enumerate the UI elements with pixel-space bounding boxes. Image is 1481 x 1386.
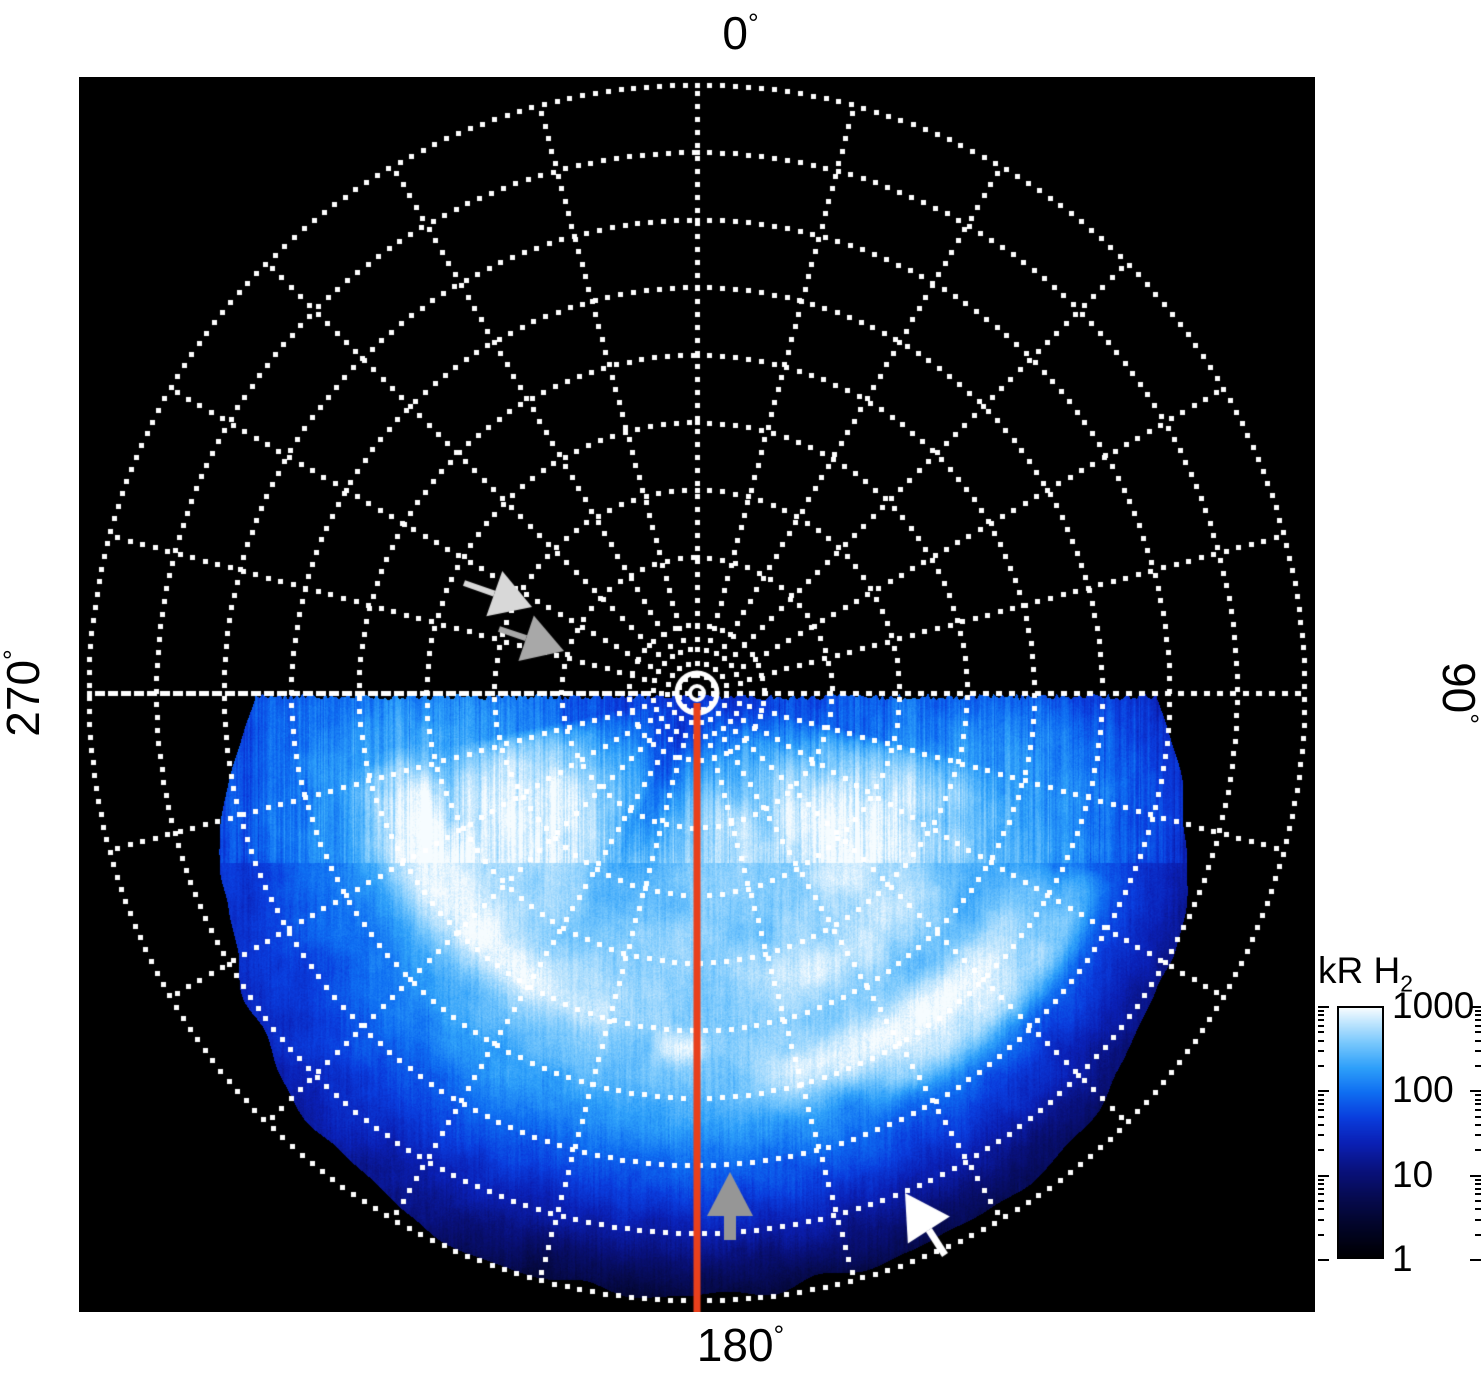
colorbar-major-tick — [1470, 1175, 1481, 1177]
colorbar-minor-tick — [1318, 1040, 1324, 1042]
colorbar-major-tick — [1318, 1090, 1329, 1092]
colorbar-minor-tick — [1475, 1234, 1481, 1236]
axis-label-180: 180° — [0, 1322, 1481, 1368]
axis-label-0: 0° — [0, 10, 1481, 56]
colorbar-minor-tick — [1475, 1019, 1481, 1021]
colorbar-minor-tick — [1318, 1099, 1324, 1101]
colorbar-major-tick — [1470, 1090, 1481, 1092]
colorbar-minor-tick — [1475, 1099, 1481, 1101]
colorbar-minor-tick — [1475, 1183, 1481, 1185]
colorbar-minor-tick — [1475, 1014, 1481, 1016]
axis-label-90: 90° — [1436, 608, 1481, 778]
colorbar-tick-label: 10 — [1392, 1154, 1433, 1196]
colorbar-tick-label: 100 — [1392, 1069, 1454, 1111]
colorbar-minor-tick — [1318, 1065, 1324, 1067]
axis-label-270: 270° — [0, 608, 46, 778]
colorbar-minor-tick — [1318, 1014, 1324, 1016]
colorbar-major-tick — [1470, 1259, 1481, 1261]
colorbar-minor-tick — [1475, 1219, 1481, 1221]
colorbar-minor-tick — [1475, 1065, 1481, 1067]
colorbar-minor-tick — [1318, 1019, 1324, 1021]
colorbar-minor-tick — [1318, 1179, 1324, 1181]
colorbar-minor-tick — [1475, 1031, 1481, 1033]
colorbar-box — [1337, 1006, 1384, 1259]
colorbar-minor-tick — [1475, 1193, 1481, 1195]
colorbar-minor-tick — [1318, 1050, 1324, 1052]
colorbar-tick-label: 1000 — [1392, 985, 1474, 1027]
colorbar-minor-tick — [1318, 1208, 1324, 1210]
colorbar-minor-tick — [1475, 1200, 1481, 1202]
colorbar-minor-tick — [1475, 1109, 1481, 1111]
colorbar-minor-tick — [1318, 1134, 1324, 1136]
colorbar-minor-tick — [1475, 1149, 1481, 1151]
colorbar-major-tick — [1318, 1006, 1329, 1008]
colorbar: kR H2 1000100101 — [1318, 950, 1481, 1330]
colorbar-minor-tick — [1475, 1116, 1481, 1118]
colorbar-minor-tick — [1475, 1124, 1481, 1126]
colorbar-minor-tick — [1318, 1200, 1324, 1202]
colorbar-minor-tick — [1318, 1025, 1324, 1027]
colorbar-major-tick — [1318, 1175, 1329, 1177]
colorbar-minor-tick — [1475, 1208, 1481, 1210]
colorbar-minor-tick — [1318, 1109, 1324, 1111]
colorbar-minor-tick — [1318, 1124, 1324, 1126]
colorbar-minor-tick — [1475, 1134, 1481, 1136]
colorbar-minor-tick — [1475, 1025, 1481, 1027]
colorbar-tick-label: 1 — [1392, 1238, 1413, 1280]
colorbar-minor-tick — [1318, 1149, 1324, 1151]
colorbar-minor-tick — [1318, 1103, 1324, 1105]
colorbar-minor-tick — [1318, 1188, 1324, 1190]
colorbar-minor-tick — [1318, 1193, 1324, 1195]
colorbar-minor-tick — [1318, 1031, 1324, 1033]
colorbar-gradient — [1339, 1008, 1382, 1257]
polar-plot-area — [79, 77, 1315, 1312]
colorbar-minor-tick — [1318, 1094, 1324, 1096]
colorbar-major-tick — [1318, 1259, 1329, 1261]
colorbar-minor-tick — [1318, 1010, 1324, 1012]
colorbar-minor-tick — [1475, 1179, 1481, 1181]
colorbar-minor-tick — [1318, 1183, 1324, 1185]
colorbar-minor-tick — [1475, 1050, 1481, 1052]
colorbar-minor-tick — [1318, 1234, 1324, 1236]
colorbar-minor-tick — [1318, 1219, 1324, 1221]
colorbar-minor-tick — [1475, 1094, 1481, 1096]
colorbar-minor-tick — [1475, 1103, 1481, 1105]
colorbar-minor-tick — [1475, 1040, 1481, 1042]
colorbar-minor-tick — [1475, 1188, 1481, 1190]
aurora-polar-image — [79, 77, 1315, 1312]
colorbar-minor-tick — [1475, 1010, 1481, 1012]
figure-root: 0° 180° 270° 90° kR H2 1000100101 — [0, 0, 1481, 1386]
colorbar-minor-tick — [1318, 1116, 1324, 1118]
